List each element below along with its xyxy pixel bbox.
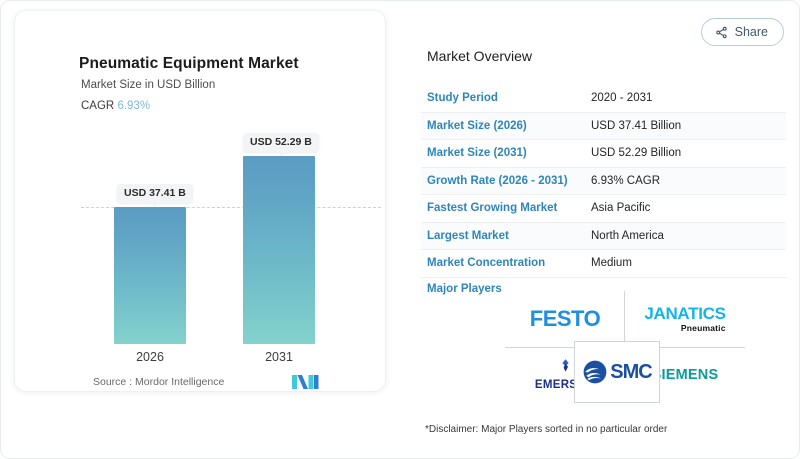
festo-wordmark: FESTO bbox=[530, 306, 600, 332]
chart-cagr: CAGR 6.93% bbox=[81, 100, 150, 112]
row-label: Market Size (2026) bbox=[421, 120, 591, 132]
chart-cagr-value: 6.93% bbox=[117, 100, 150, 112]
table-row: Growth Rate (2026 - 2031) 6.93% CAGR bbox=[421, 168, 786, 196]
chart-subtitle: Market Size in USD Billion bbox=[81, 79, 215, 91]
table-row: Largest Market North America bbox=[421, 223, 786, 251]
chart-title: Pneumatic Equipment Market bbox=[79, 55, 299, 73]
siemens-wordmark: SIEMENS bbox=[652, 367, 719, 383]
chart-card: Pneumatic Equipment Market Market Size i… bbox=[14, 10, 386, 392]
row-label: Growth Rate (2026 - 2031) bbox=[421, 175, 591, 187]
market-overview-title: Market Overview bbox=[427, 48, 532, 64]
table-row: Market Size (2031) USD 52.29 Billion bbox=[421, 140, 786, 168]
row-label: Fastest Growing Market bbox=[421, 202, 591, 214]
logo-smc: SMC bbox=[574, 341, 660, 403]
row-label: Market Size (2031) bbox=[421, 147, 591, 159]
row-value: North America bbox=[591, 230, 664, 242]
market-overview-table: Study Period 2020 - 2031 Market Size (20… bbox=[421, 85, 786, 278]
chart-source: Source : Mordor Intelligence bbox=[93, 376, 224, 388]
row-value: USD 37.41 Billion bbox=[591, 120, 681, 132]
share-nodes-icon bbox=[715, 26, 728, 39]
row-value: USD 52.29 Billion bbox=[591, 147, 681, 159]
row-label: Study Period bbox=[421, 92, 591, 104]
share-button[interactable]: Share bbox=[701, 18, 784, 46]
row-value: Asia Pacific bbox=[591, 202, 650, 214]
x-axis-label-2031: 2031 bbox=[243, 350, 315, 364]
major-players-label: Major Players bbox=[427, 283, 502, 295]
emerson-mark-icon bbox=[558, 358, 573, 377]
janatics-wordmark: JANATICS bbox=[644, 305, 725, 322]
bar-2026[interactable] bbox=[114, 207, 186, 344]
x-axis-label-2026: 2026 bbox=[114, 350, 186, 364]
bar-2031[interactable] bbox=[243, 156, 315, 344]
table-row: Market Size (2026) USD 37.41 Billion bbox=[421, 113, 786, 141]
share-button-label: Share bbox=[735, 25, 768, 39]
janatics-tagline: Pneumatic bbox=[681, 324, 726, 333]
players-disclaimer: *Disclaimer: Major Players sorted in no … bbox=[425, 424, 667, 435]
table-row: Market Concentration Medium bbox=[421, 250, 786, 278]
row-value: Medium bbox=[591, 257, 632, 269]
smc-swirl-icon bbox=[582, 359, 608, 385]
logo-festo: FESTO bbox=[507, 293, 623, 345]
row-value: 2020 - 2031 bbox=[591, 92, 652, 104]
logo-janatics: JANATICS Pneumatic bbox=[626, 293, 744, 345]
chart-cagr-label: CAGR bbox=[81, 100, 114, 112]
bar-label-2031: USD 52.29 B bbox=[243, 133, 319, 152]
table-row: Fastest Growing Market Asia Pacific bbox=[421, 195, 786, 223]
table-row: Study Period 2020 - 2031 bbox=[421, 85, 786, 113]
mordor-intelligence-logo bbox=[292, 374, 320, 390]
row-label: Largest Market bbox=[421, 230, 591, 242]
row-value: 6.93% CAGR bbox=[591, 175, 660, 187]
bar-label-2026: USD 37.41 B bbox=[117, 184, 193, 203]
row-label: Market Concentration bbox=[421, 257, 591, 269]
smc-wordmark: SMC bbox=[610, 361, 651, 384]
